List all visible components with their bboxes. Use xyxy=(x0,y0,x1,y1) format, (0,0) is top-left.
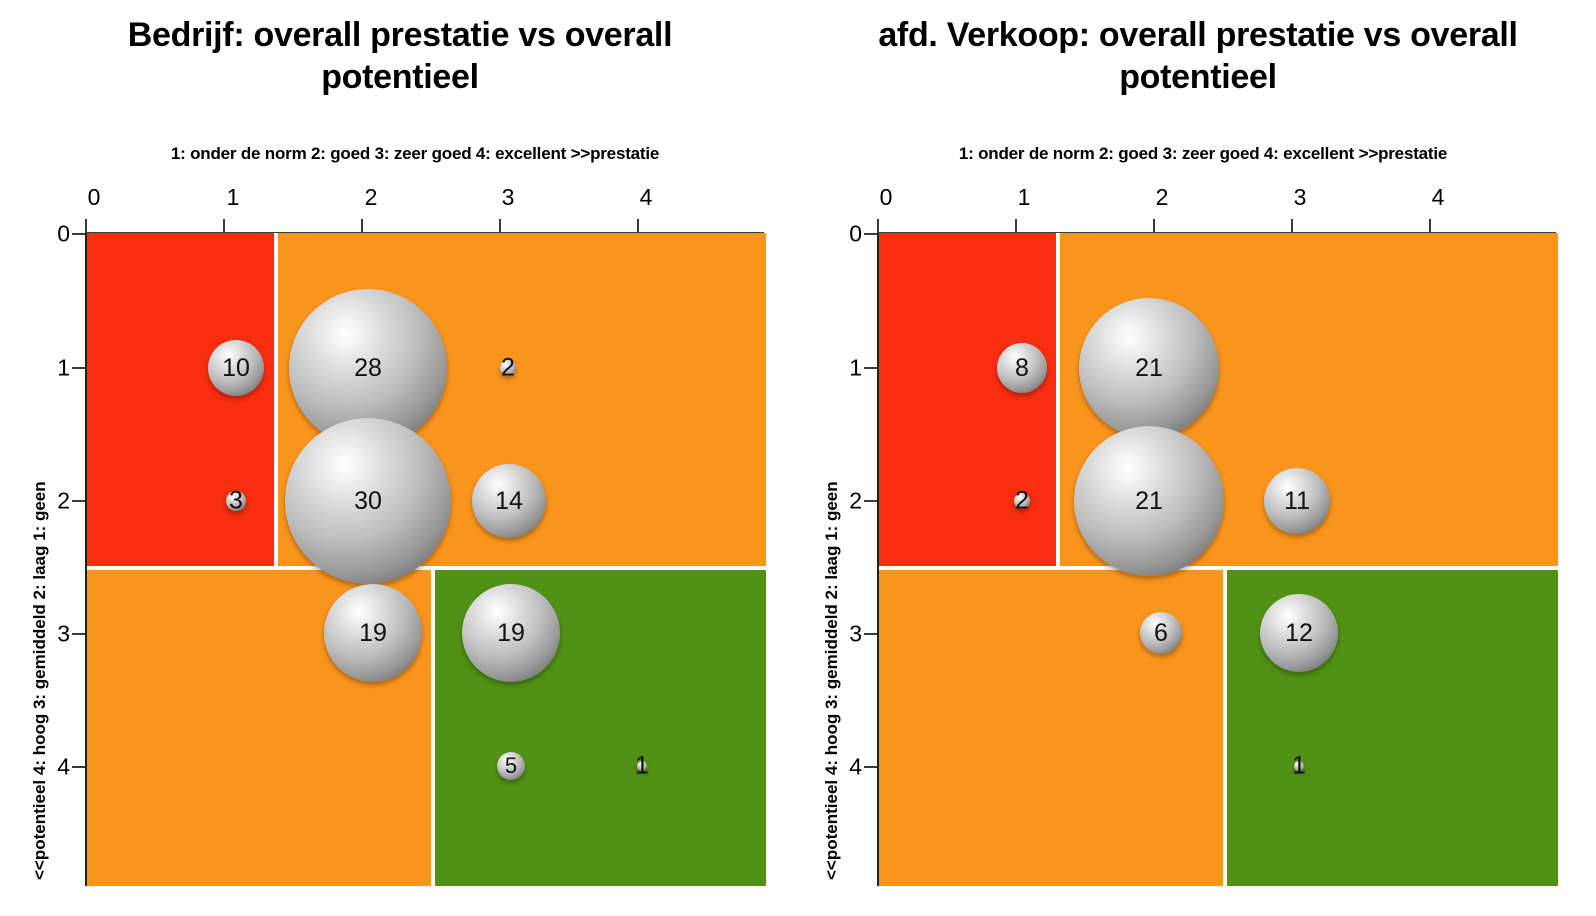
bubble-value: 12 xyxy=(1285,619,1313,648)
zone-separator-horizontal xyxy=(879,566,1558,570)
x-tickmark-4 xyxy=(1429,219,1431,232)
bubble-point[interactable]: 1 xyxy=(1294,761,1304,771)
y-tickmark-3 xyxy=(864,633,877,635)
bubble-value: 21 xyxy=(1135,354,1163,383)
x-tick-4: 4 xyxy=(1432,184,1445,211)
bubble-value: 6 xyxy=(1154,619,1168,648)
bubble-point[interactable]: 14 xyxy=(472,464,546,538)
y-tick-0: 0 xyxy=(48,221,70,248)
bubble-value: 19 xyxy=(359,619,387,648)
x-tick-0: 0 xyxy=(880,184,893,211)
y-tickmark-2 xyxy=(72,500,85,502)
plot-area-bedrijf: 10 28 2 3 30 14 19 19 5 xyxy=(85,233,766,886)
bubble-value: 19 xyxy=(497,619,525,648)
bubble-point[interactable]: 10 xyxy=(208,340,264,396)
bubble-value: 10 xyxy=(222,354,250,383)
zone-separator-horizontal xyxy=(87,566,766,570)
zone-red xyxy=(87,233,274,566)
bubble-point[interactable]: 19 xyxy=(462,584,560,682)
plot-area-verkoop: 8 21 2 21 11 6 12 1 xyxy=(877,233,1558,886)
bubble-value: 5 xyxy=(505,753,517,779)
chart-bedrijf: Bedrijf: overall prestatie vs overall po… xyxy=(0,0,800,916)
y-tickmark-4 xyxy=(72,766,85,768)
chart-title-verkoop: afd. Verkoop: overall prestatie vs overa… xyxy=(800,14,1596,98)
bubble-value: 8 xyxy=(1015,354,1029,383)
y-tick-0: 0 xyxy=(840,221,862,248)
x-tick-2: 2 xyxy=(365,184,378,211)
y-tickmark-0 xyxy=(72,233,85,235)
x-tick-2: 2 xyxy=(1156,184,1169,211)
bubble-point[interactable]: 21 xyxy=(1074,426,1224,576)
chart-subtitle-verkoop: 1: onder de norm 2: goed 3: zeer goed 4:… xyxy=(800,144,1596,164)
y-tick-2: 2 xyxy=(48,488,70,515)
y-tick-4: 4 xyxy=(48,754,70,781)
y-tick-4: 4 xyxy=(840,754,862,781)
chart-verkoop: afd. Verkoop: overall prestatie vs overa… xyxy=(800,0,1596,916)
y-tick-1: 1 xyxy=(840,355,862,382)
y-tickmark-2 xyxy=(864,500,877,502)
bubble-point[interactable]: 8 xyxy=(997,343,1047,393)
y-tickmark-4 xyxy=(864,766,877,768)
x-tickmark-4 xyxy=(637,219,639,232)
x-tickmark-2 xyxy=(361,219,363,232)
bubble-value: 11 xyxy=(1284,487,1310,516)
bubble-point[interactable]: 2 xyxy=(500,360,516,376)
chart-subtitle-bedrijf: 1: onder de norm 2: goed 3: zeer goed 4:… xyxy=(0,144,800,164)
y-tickmark-1 xyxy=(72,367,85,369)
x-tickmark-1 xyxy=(1015,219,1017,232)
bubble-value: 21 xyxy=(1135,487,1163,516)
y-tickmark-1 xyxy=(864,367,877,369)
x-tickmark-0 xyxy=(877,219,879,232)
zone-red xyxy=(879,233,1056,566)
zone-separator-vertical-bottom xyxy=(431,570,435,886)
chart-title-bedrijf: Bedrijf: overall prestatie vs overall po… xyxy=(0,14,800,98)
x-tick-4: 4 xyxy=(640,184,653,211)
bubble-value: 30 xyxy=(354,487,382,516)
x-tickmark-3 xyxy=(499,219,501,232)
y-axis-title-verkoop: <<potentieel 4: hoog 3: gemiddeld 2: laa… xyxy=(822,481,842,880)
y-axis-title-bedrijf: <<potentieel 4: hoog 3: gemiddeld 2: laa… xyxy=(30,481,50,880)
y-tickmark-0 xyxy=(864,233,877,235)
y-tick-2: 2 xyxy=(840,488,862,515)
bubble-point[interactable]: 1 xyxy=(637,761,647,771)
x-tick-3: 3 xyxy=(502,184,515,211)
zone-separator-vertical-top xyxy=(1056,233,1060,570)
bubble-value: 28 xyxy=(354,354,382,383)
bubble-point[interactable]: 19 xyxy=(324,584,422,682)
bubble-point[interactable]: 30 xyxy=(285,418,451,584)
x-tick-1: 1 xyxy=(227,184,240,211)
zone-separator-vertical-top xyxy=(274,233,278,570)
x-tickmark-0 xyxy=(85,219,87,232)
zone-separator-vertical-bottom xyxy=(1223,570,1227,886)
bubble-point[interactable]: 11 xyxy=(1264,468,1330,534)
bubble-point[interactable]: 3 xyxy=(226,491,246,511)
y-tick-1: 1 xyxy=(48,355,70,382)
x-tickmark-3 xyxy=(1291,219,1293,232)
bubble-point[interactable]: 12 xyxy=(1260,594,1338,672)
x-tickmark-2 xyxy=(1153,219,1155,232)
x-tick-3: 3 xyxy=(1294,184,1307,211)
x-tick-0: 0 xyxy=(88,184,101,211)
bubble-point[interactable]: 6 xyxy=(1140,612,1182,654)
x-tickmark-1 xyxy=(223,219,225,232)
bubble-point[interactable]: 21 xyxy=(1079,298,1219,438)
y-tick-3: 3 xyxy=(840,621,862,648)
x-tick-1: 1 xyxy=(1018,184,1031,211)
y-tickmark-3 xyxy=(72,633,85,635)
bubble-point[interactable]: 5 xyxy=(497,752,525,780)
y-tick-3: 3 xyxy=(48,621,70,648)
bubble-point[interactable]: 2 xyxy=(1014,493,1030,509)
bubble-value: 14 xyxy=(495,487,523,516)
chart-pair: Bedrijf: overall prestatie vs overall po… xyxy=(0,0,1596,916)
